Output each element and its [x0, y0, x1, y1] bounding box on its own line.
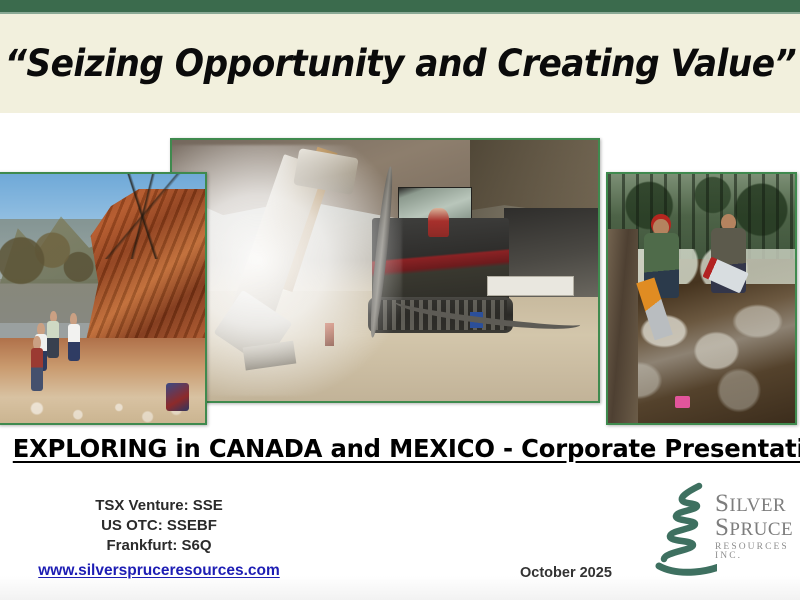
left-outcrop-photo [0, 172, 207, 425]
presentation-slide: “Seizing Opportunity and Creating Value” [0, 0, 800, 600]
stock-listings: TSX Venture: SSE US OTC: SSEBF Frankfurt… [30, 496, 288, 556]
headline-row: EXPLORING in CANADA and MEXICO - Corpora… [0, 434, 800, 463]
company-logo: SILVER SPRUCE RESOURCES INC. [655, 478, 800, 588]
bare-branches [86, 174, 201, 259]
center-drill-rig-photo [170, 138, 600, 403]
slide-title: “Seizing Opportunity and Creating Value” [4, 42, 795, 85]
ticker-us-otc: US OTC: SSEBF [30, 516, 288, 536]
drill-rig-scene [172, 140, 598, 401]
rig-operator [428, 208, 449, 237]
right-boreal-outcrop-photo [606, 172, 797, 425]
website-link[interactable]: www.silverspruceresources.com [28, 562, 290, 580]
title-banner: “Seizing Opportunity and Creating Value” [0, 14, 800, 113]
slide-footer: TSX Venture: SSE US OTC: SSEBF Frankfurt… [0, 480, 800, 600]
top-green-rule [0, 0, 800, 12]
spruce-tree-icon [655, 480, 717, 580]
ticker-tsx-venture: TSX Venture: SSE [30, 496, 288, 516]
logo-wordmark: SILVER SPRUCE RESOURCES INC. [715, 492, 800, 561]
field-person [68, 313, 80, 360]
field-person [47, 311, 59, 358]
ticker-frankfurt: Frankfurt: S6Q [30, 536, 288, 556]
sample-table [487, 276, 574, 296]
logo-line-spruce: SPRUCE [715, 516, 800, 540]
logo-line-resources-inc: RESOURCES INC. [715, 543, 800, 561]
field-person [31, 336, 43, 391]
field-backpack [166, 383, 189, 410]
photo-collage [0, 113, 800, 433]
logo-line-silver: SILVER [715, 492, 800, 516]
presentation-date: October 2025 [520, 565, 612, 581]
foreground-tree-trunk [606, 229, 638, 423]
canada-outcrop-scene [608, 174, 795, 423]
pink-flagging-tape [675, 396, 690, 408]
mexico-outcrop-scene [0, 174, 205, 423]
headline-text: EXPLORING in CANADA and MEXICO - Corpora… [13, 434, 800, 463]
